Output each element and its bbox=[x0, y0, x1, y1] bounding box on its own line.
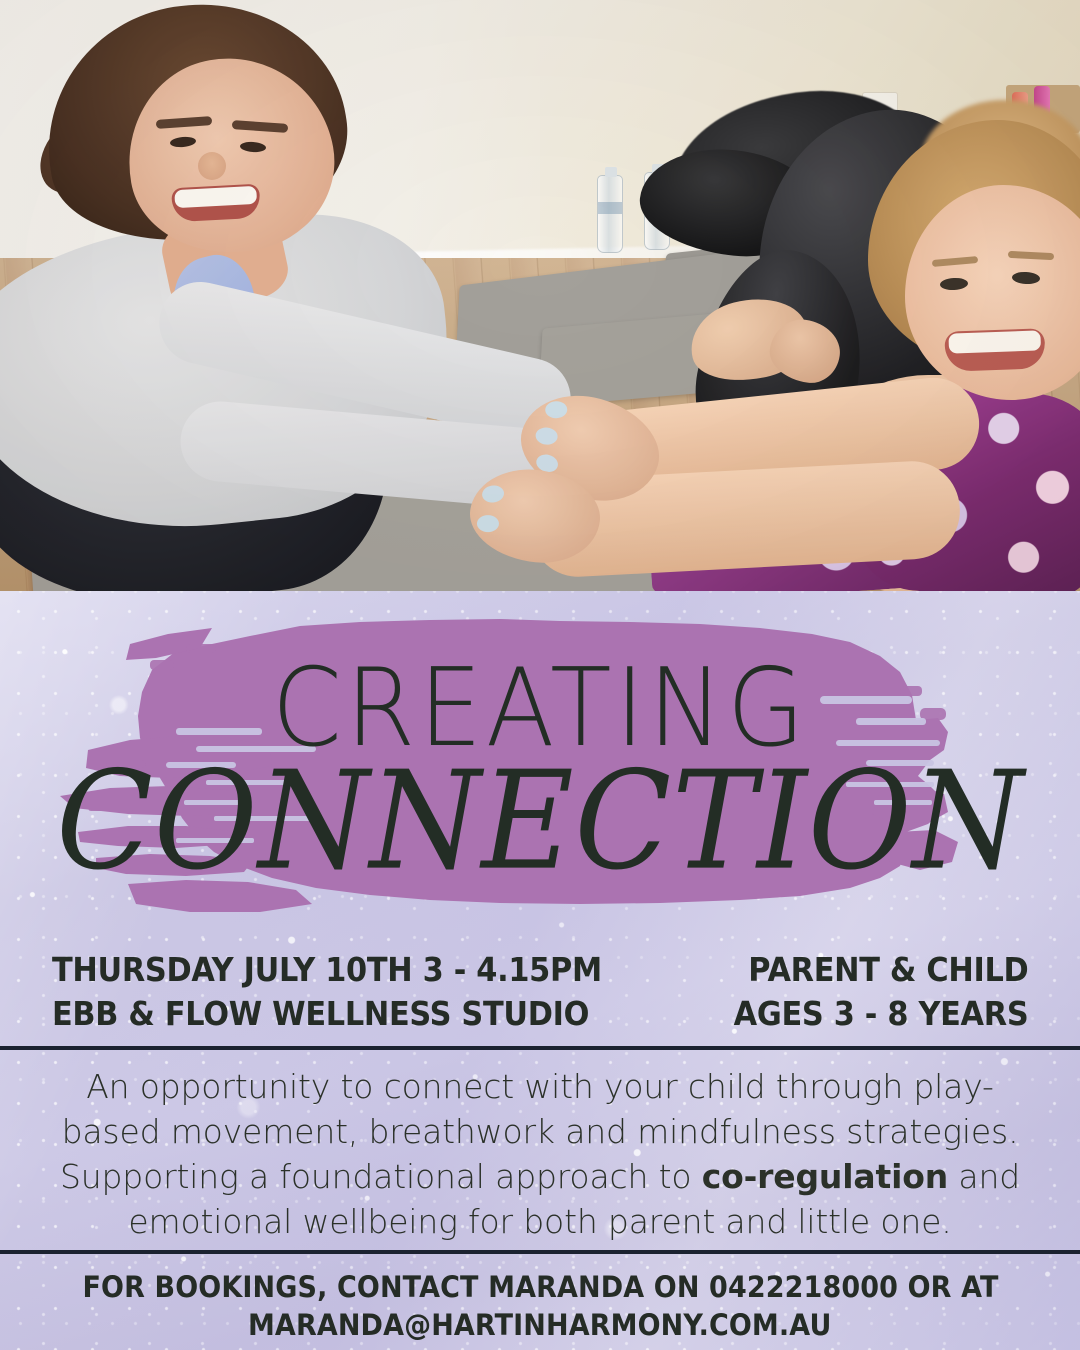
divider-top bbox=[0, 1046, 1080, 1050]
hero-photo bbox=[0, 0, 1080, 591]
event-audience-type: PARENT & CHILD bbox=[733, 948, 1028, 992]
event-when-where: THURSDAY JULY 10TH 3 - 4.15PM EBB & FLOW… bbox=[52, 948, 602, 1035]
event-venue: EBB & FLOW WELLNESS STUDIO bbox=[52, 992, 602, 1036]
photo-grain-overlay bbox=[0, 0, 1080, 591]
event-date-time: THURSDAY JULY 10TH 3 - 4.15PM bbox=[52, 948, 602, 992]
booking-phone-line: FOR BOOKINGS, CONTACT MARANDA ON 0422218… bbox=[82, 1268, 998, 1306]
description-highlight: co-regulation bbox=[702, 1157, 948, 1196]
booking-contact: FOR BOOKINGS, CONTACT MARANDA ON 0422218… bbox=[0, 1258, 1080, 1350]
booking-email-line[interactable]: MARANDA@HARTINHARMONY.COM.AU bbox=[248, 1306, 832, 1344]
description-paragraph: An opportunity to connect with your chil… bbox=[56, 1065, 1024, 1245]
title-line-connection: CONNECTION bbox=[5, 754, 1074, 890]
event-details-row: THURSDAY JULY 10TH 3 - 4.15PM EBB & FLOW… bbox=[0, 948, 1080, 1046]
event-age-range: AGES 3 - 8 YEARS bbox=[733, 992, 1028, 1036]
flyer-poster: CREATING CONNECTION THURSDAY JULY 10TH 3… bbox=[0, 0, 1080, 1350]
event-description: An opportunity to connect with your chil… bbox=[0, 1062, 1080, 1248]
event-audience: PARENT & CHILD AGES 3 - 8 YEARS bbox=[733, 948, 1028, 1035]
divider-bottom bbox=[0, 1250, 1080, 1254]
